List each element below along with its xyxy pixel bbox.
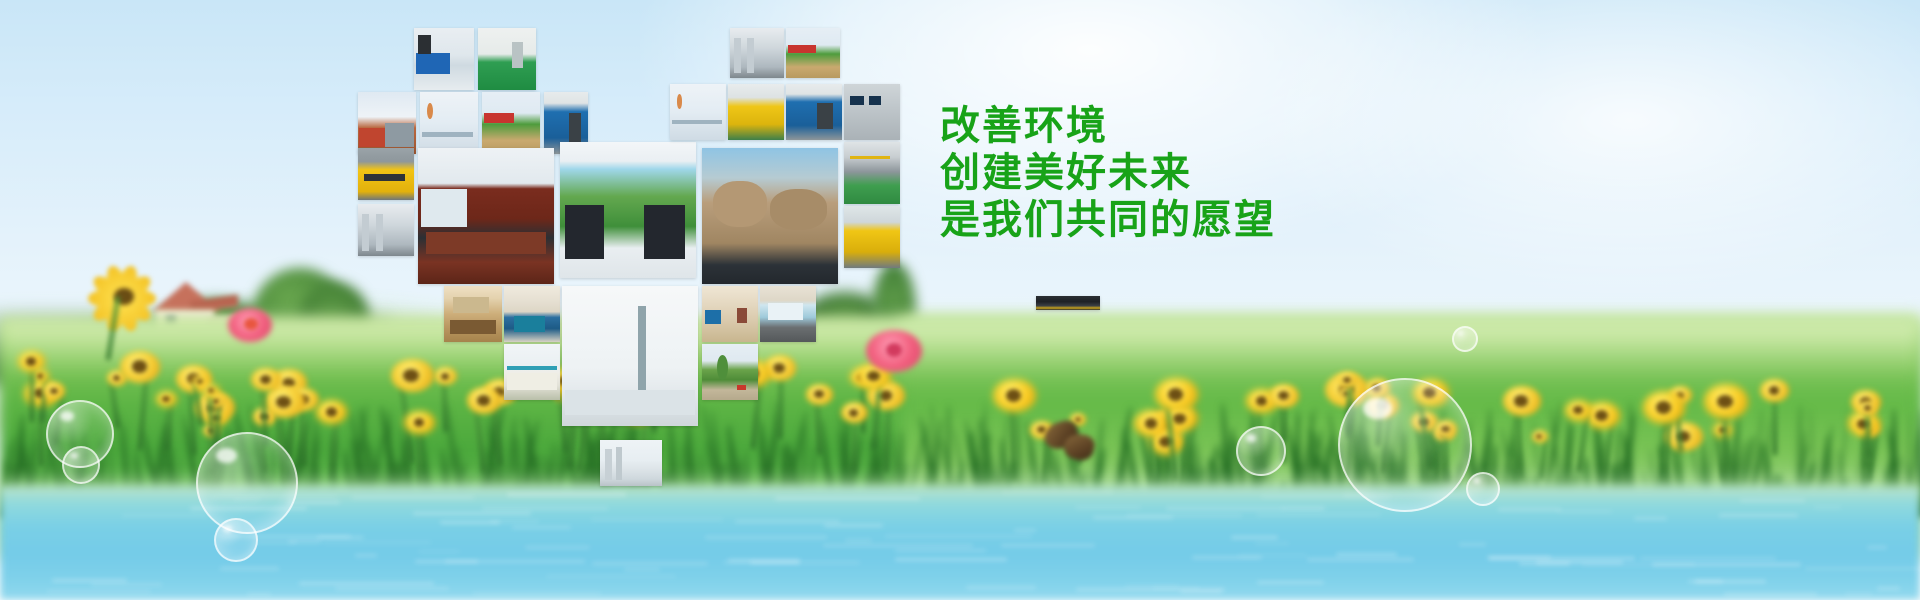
press-machines-image xyxy=(786,84,842,140)
control-panel-cabinet-image xyxy=(844,84,900,140)
board-meeting-room-image xyxy=(418,148,554,284)
plant-exterior-image xyxy=(600,440,662,486)
collage-photo-company-lobby[interactable] xyxy=(702,286,758,342)
collage-photo-factory-tower-panorama[interactable] xyxy=(562,286,698,426)
construction-site-image xyxy=(358,92,416,154)
collage-photo-landscaped-garden[interactable] xyxy=(702,344,758,400)
landscaped-garden-image xyxy=(702,344,758,400)
collage-photo-workshop-building[interactable] xyxy=(504,344,560,400)
collage-photo-information-board[interactable] xyxy=(760,286,816,342)
company-photo-collage[interactable] xyxy=(0,0,1920,600)
laboratory-room-image xyxy=(414,28,474,90)
filtration-columns-image xyxy=(670,84,726,140)
collage-photo-yellow-mixing-plant[interactable] xyxy=(844,206,900,268)
collage-photo-control-panel-cabinet[interactable] xyxy=(844,84,900,140)
collage-photo-pipe-gallery[interactable] xyxy=(844,142,900,204)
collage-photo-rock-garden-group-photo[interactable] xyxy=(702,148,838,284)
collage-photo-storage-tanks[interactable] xyxy=(358,204,414,256)
staff-in-front-of-screen-image xyxy=(560,142,696,278)
collage-photo-glassware-lab[interactable] xyxy=(420,92,478,154)
factory-tower-panorama-image xyxy=(562,286,698,426)
glassware-lab-image xyxy=(420,92,478,154)
collage-photo-press-machines[interactable] xyxy=(786,84,842,140)
storage-tanks-image xyxy=(358,204,414,256)
collage-photo-reception-parlor[interactable] xyxy=(444,286,502,342)
yellow-mixing-plant-image xyxy=(844,206,900,268)
slogan-block: 改善环境 创建美好未来 是我们共同的愿望 xyxy=(940,104,1500,242)
collage-photo-yellow-equipment-room[interactable] xyxy=(728,84,784,140)
yellow-equipment-room-image xyxy=(728,84,784,140)
company-lobby-image xyxy=(702,286,758,342)
slogan-line-2: 创建美好未来 xyxy=(940,151,1500,195)
information-board-image xyxy=(760,286,816,342)
collage-photo-plant-exterior[interactable] xyxy=(600,440,662,486)
collage-photo-dark-equipment[interactable] xyxy=(1036,296,1100,310)
collage-photo-hall-with-led-screen[interactable] xyxy=(504,286,560,342)
green-floor-workshop-image xyxy=(478,28,536,90)
steel-structure-tanks-image xyxy=(730,28,784,78)
reception-parlor-image xyxy=(444,286,502,342)
workshop-building-image xyxy=(504,344,560,400)
collage-photo-outdoor-plant[interactable] xyxy=(786,28,840,78)
hall-with-led-screen-image xyxy=(504,286,560,342)
green-field-road-image xyxy=(482,92,540,154)
outdoor-plant-image xyxy=(786,28,840,78)
yellow-heavy-machine-image xyxy=(358,148,414,200)
collage-photo-steel-structure-tanks[interactable] xyxy=(730,28,784,78)
collage-photo-board-meeting-room[interactable] xyxy=(418,148,554,284)
hero-banner: 改善环境 创建美好未来 是我们共同的愿望 xyxy=(0,0,1920,600)
slogan-line-1: 改善环境 xyxy=(940,104,1500,148)
collage-photo-green-floor-workshop[interactable] xyxy=(478,28,536,90)
pipe-gallery-image xyxy=(844,142,900,204)
collage-photo-yellow-heavy-machine[interactable] xyxy=(358,148,414,200)
rock-garden-group-photo-image xyxy=(702,148,838,284)
collage-photo-green-field-road[interactable] xyxy=(482,92,540,154)
collage-photo-construction-site[interactable] xyxy=(358,92,416,154)
collage-photo-filtration-columns[interactable] xyxy=(670,84,726,140)
collage-photo-staff-in-front-of-screen[interactable] xyxy=(560,142,696,278)
slogan-line-3: 是我们共同的愿望 xyxy=(940,198,1500,242)
collage-photo-laboratory-room[interactable] xyxy=(414,28,474,90)
dark-equipment-image xyxy=(1036,296,1100,310)
